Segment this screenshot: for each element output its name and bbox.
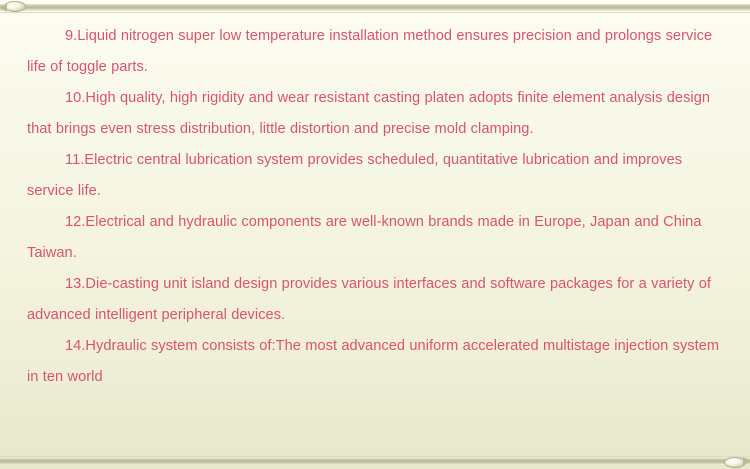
leaf-ornament-icon — [4, 1, 26, 12]
leaf-ornament-tip-icon — [0, 4, 7, 12]
paragraph-14: 14.Hydraulic system consists of:The most… — [27, 331, 723, 393]
leaf-ornament-tip-icon — [743, 457, 750, 465]
top-rule-bar — [0, 4, 750, 11]
top-decorative-rule — [0, 0, 750, 13]
paragraph-9: 9.Liquid nitrogen super low temperature … — [27, 21, 723, 83]
leaf-ornament-icon — [724, 457, 746, 468]
document-body: 9.Liquid nitrogen super low temperature … — [0, 13, 750, 456]
bottom-decorative-rule — [0, 456, 750, 469]
document-panel: 9.Liquid nitrogen super low temperature … — [0, 0, 750, 469]
paragraph-11: 11.Electric central lubrication system p… — [27, 145, 723, 207]
bottom-rule-hairline — [0, 456, 750, 457]
paragraph-10: 10.High quality, high rigidity and wear … — [27, 83, 723, 145]
bottom-rule-bar — [0, 458, 750, 465]
paragraph-13: 13.Die-casting unit island design provid… — [27, 269, 723, 331]
paragraph-12: 12.Electrical and hydraulic components a… — [27, 207, 723, 269]
